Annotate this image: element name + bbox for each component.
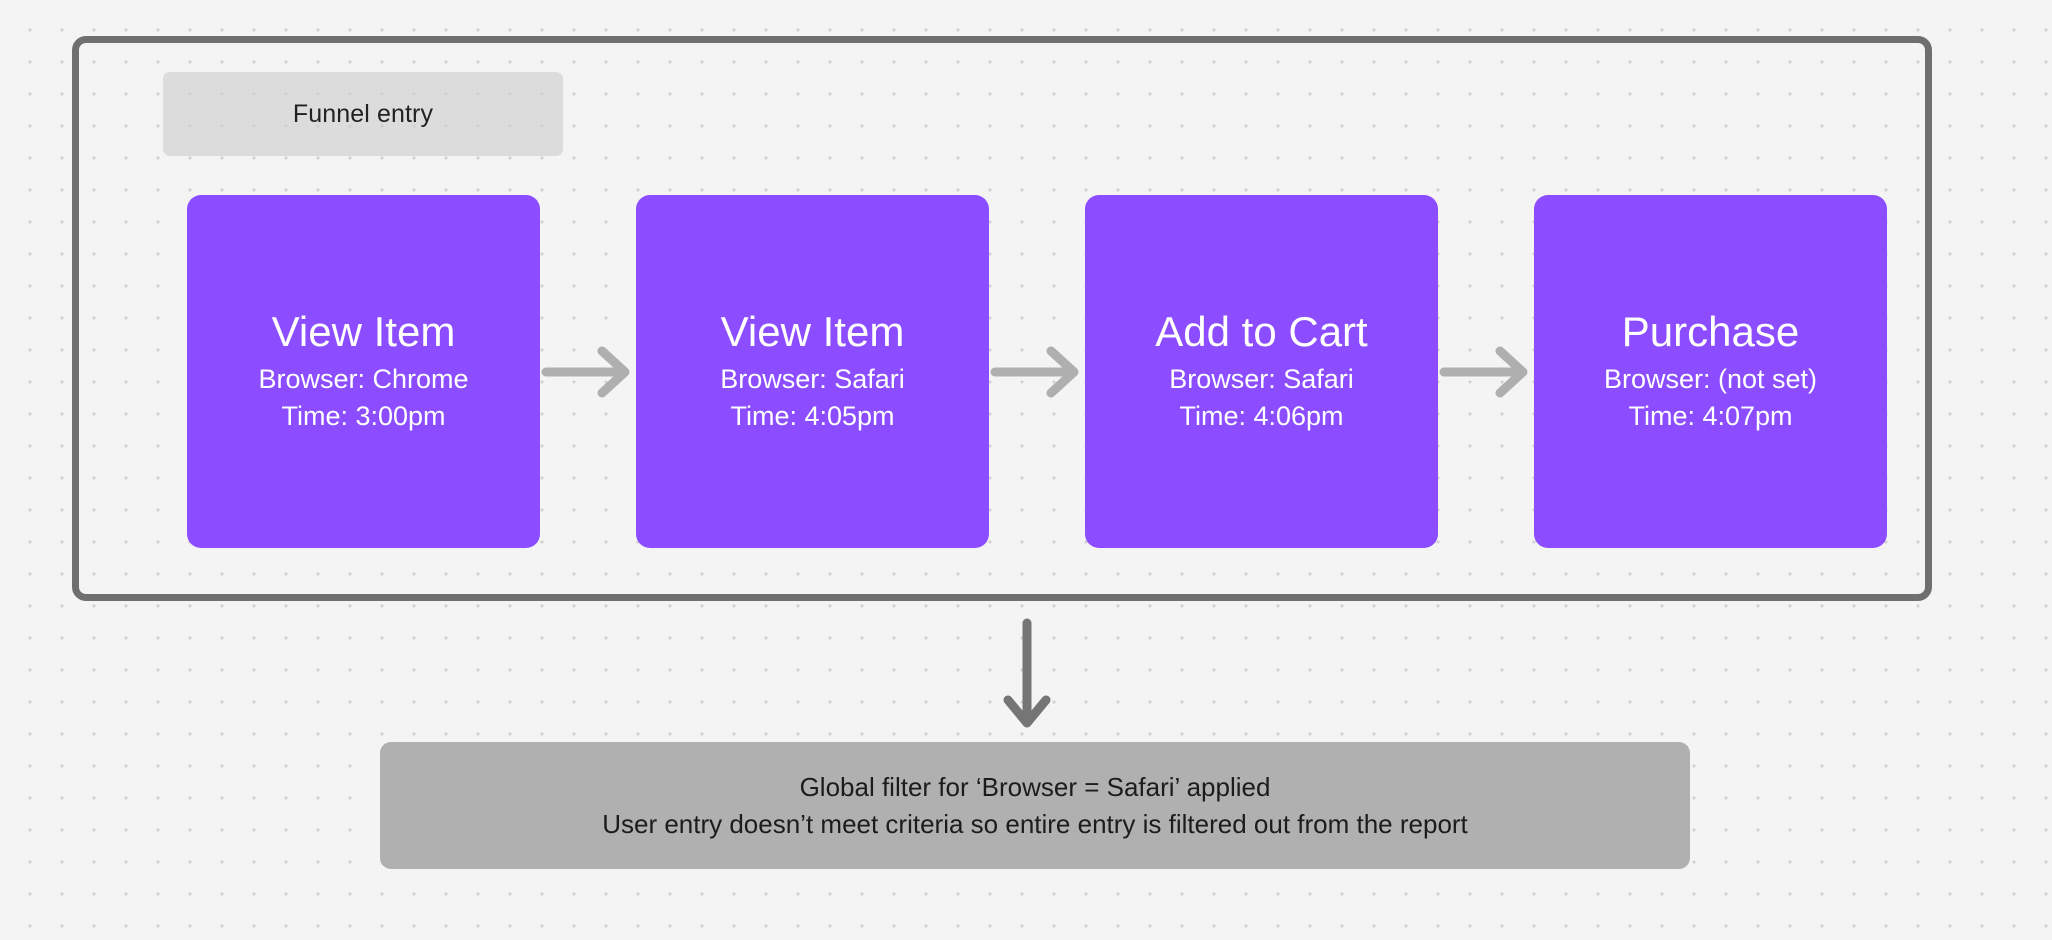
- arrow-down-icon: [1003, 617, 1051, 734]
- step-browser: Browser: (not set): [1604, 361, 1817, 398]
- funnel-steps-row: View Item Browser: Chrome Time: 3:00pm V…: [187, 195, 1881, 548]
- funnel-entry-label: Funnel entry: [163, 72, 563, 156]
- step-browser: Browser: Safari: [720, 361, 905, 398]
- arrow-right-icon-2: [989, 195, 1085, 548]
- step-title: Add to Cart: [1155, 308, 1367, 355]
- global-filter-note-line-1: Global filter for ‘Browser = Safari’ app…: [800, 769, 1271, 806]
- funnel-step-card-2[interactable]: View Item Browser: Safari Time: 4:05pm: [636, 195, 989, 548]
- arrow-right-icon-1: [540, 195, 636, 548]
- step-title: View Item: [272, 308, 456, 355]
- step-time: Time: 3:00pm: [281, 398, 445, 435]
- step-time: Time: 4:05pm: [730, 398, 894, 435]
- step-time: Time: 4:06pm: [1179, 398, 1343, 435]
- step-time: Time: 4:07pm: [1628, 398, 1792, 435]
- step-browser: Browser: Chrome: [258, 361, 468, 398]
- funnel-entry-text: Funnel entry: [293, 100, 433, 129]
- step-browser: Browser: Safari: [1169, 361, 1354, 398]
- funnel-step-card-3[interactable]: Add to Cart Browser: Safari Time: 4:06pm: [1085, 195, 1438, 548]
- step-title: View Item: [721, 308, 905, 355]
- global-filter-note: Global filter for ‘Browser = Safari’ app…: [380, 742, 1690, 869]
- global-filter-note-line-2: User entry doesn’t meet criteria so enti…: [602, 806, 1468, 843]
- arrow-right-icon-3: [1438, 195, 1534, 548]
- funnel-step-card-4[interactable]: Purchase Browser: (not set) Time: 4:07pm: [1534, 195, 1887, 548]
- funnel-step-card-1[interactable]: View Item Browser: Chrome Time: 3:00pm: [187, 195, 540, 548]
- step-title: Purchase: [1622, 308, 1799, 355]
